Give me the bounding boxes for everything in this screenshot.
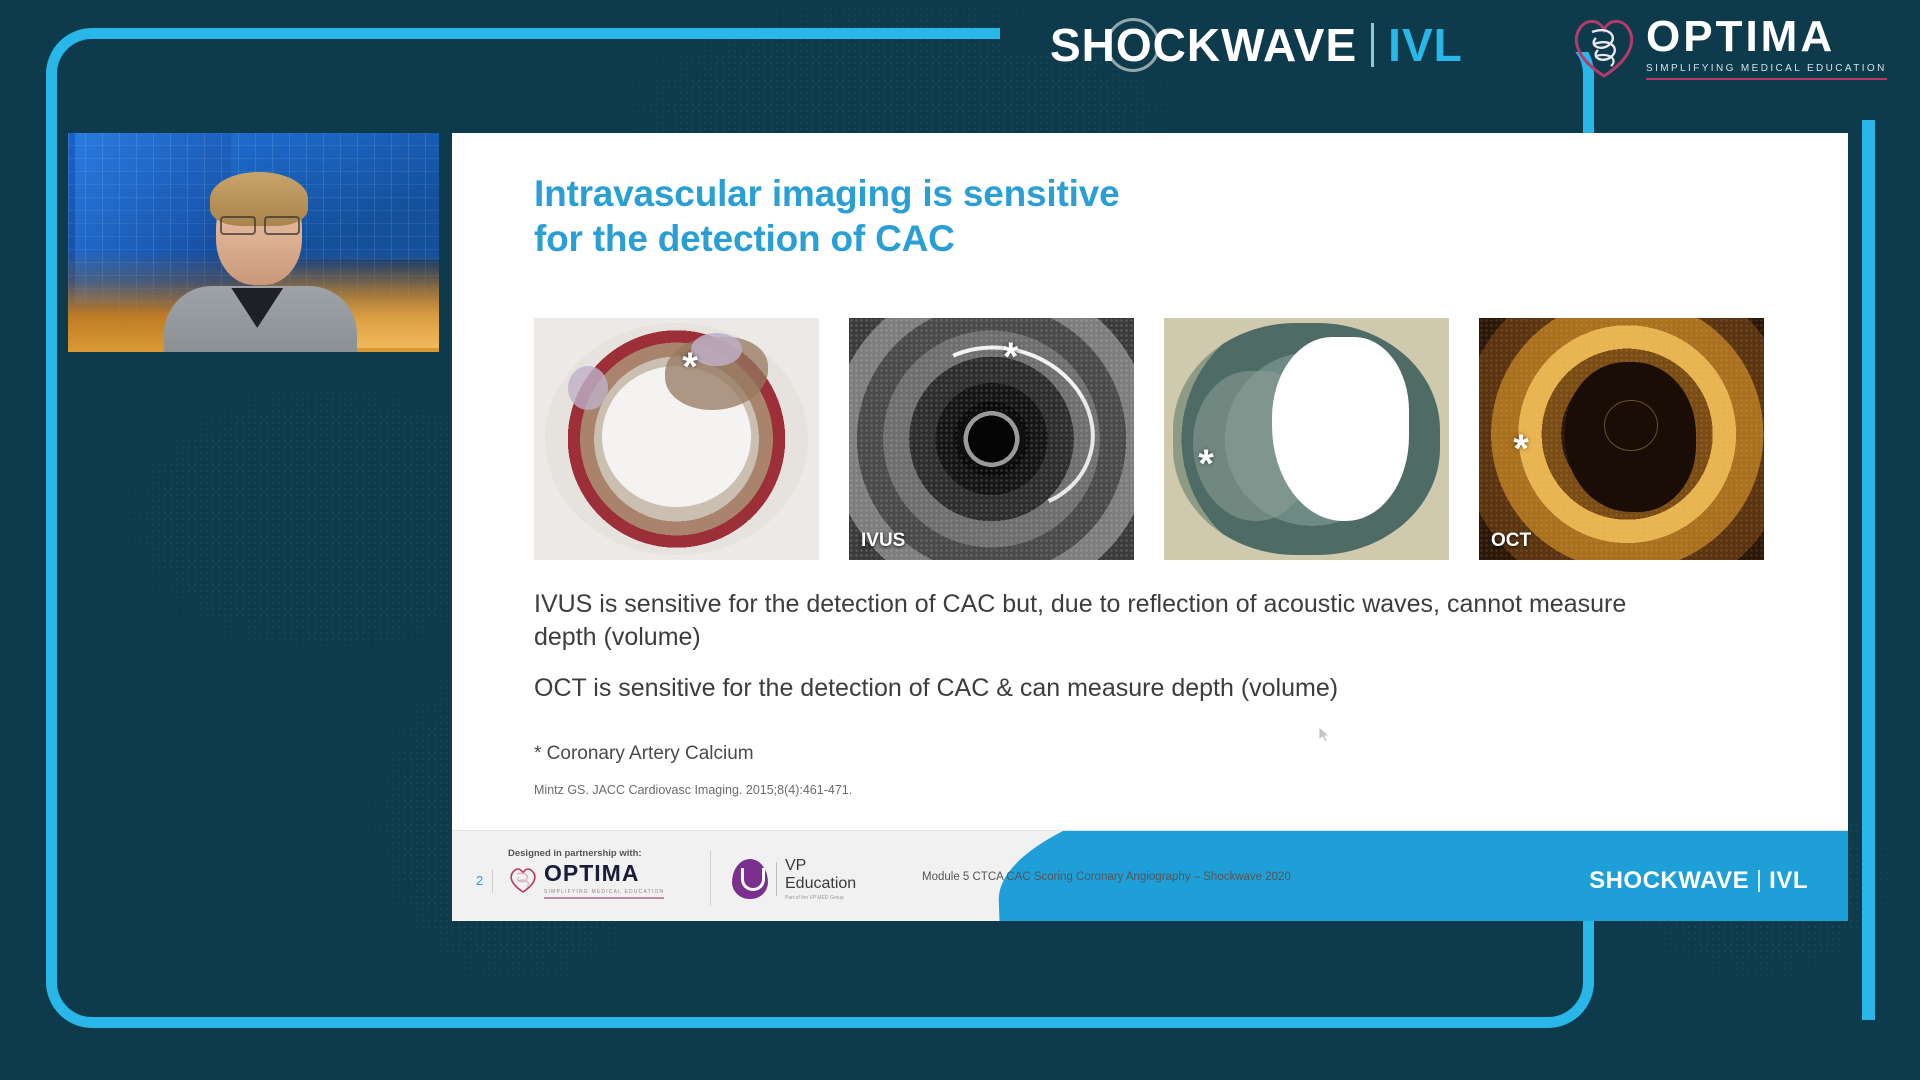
optima-underline (1646, 78, 1887, 80)
histology-he-section: * (534, 318, 819, 560)
vp-line-2: Education (785, 875, 856, 893)
optima-logo: OPTIMA SIMPLIFYING MEDICAL EDUCATION (1566, 14, 1887, 80)
footer-optima-wordmark: OPTIMA (544, 860, 664, 887)
calcium-deposit (691, 333, 742, 367)
slide-title-line-2: for the detection of CAC (534, 216, 1434, 261)
asterisk-marker: * (1003, 337, 1019, 377)
body-paragraph-2: OCT is sensitive for the detection of CA… (534, 672, 1684, 705)
footer-optima-logo: OPTIMA SIMPLIFYING MEDICAL EDUCATION (508, 860, 664, 899)
presenter-webcam-tile[interactable] (68, 133, 439, 352)
partnership-label: Designed in partnership with: (508, 848, 642, 859)
slide-number-divider (492, 869, 493, 893)
footer-optima-tagline: SIMPLIFYING MEDICAL EDUCATION (544, 889, 664, 895)
optima-heart-icon (508, 866, 538, 894)
body-paragraph-1: IVUS is sensitive for the detection of C… (534, 588, 1684, 654)
module-title-text: Module 5 CTCA CAC Scoring Coronary Angio… (922, 871, 1291, 883)
asterisk-marker: * (1513, 429, 1529, 469)
slide-number: 2 (476, 873, 483, 888)
slide-body-text: IVUS is sensitive for the detection of C… (534, 588, 1684, 705)
slide-footnote: * Coronary Artery Calcium (534, 743, 754, 765)
header-logo-bar: SHOCKWAVE IVL OPTIMA SIMPLIFYING MEDICAL… (1050, 8, 1910, 88)
optima-heart-spiral-icon (1566, 14, 1642, 80)
asterisk-marker: * (682, 347, 698, 387)
asterisk-marker: * (1198, 444, 1214, 484)
calcium-deposit-2 (568, 366, 608, 410)
vessel-lumen (1272, 337, 1409, 521)
mouse-cursor (1318, 726, 1332, 744)
footer-shockwave-wordmark: SHOCKWAVE (1589, 867, 1749, 895)
vp-shield-icon (732, 859, 768, 899)
oct-image: * OCT (1479, 318, 1764, 560)
ivus-label: IVUS (861, 530, 905, 552)
vp-line-1: VP (785, 857, 856, 875)
oct-label: OCT (1491, 530, 1531, 552)
slide-title: Intravascular imaging is sensitive for t… (534, 171, 1434, 261)
presenter-glasses (220, 216, 300, 231)
footer-optima-rule (544, 897, 664, 899)
shockwave-ring-icon (1106, 18, 1160, 72)
footer-logo-divider (1758, 870, 1760, 892)
shockwave-ivl-logo: SHOCKWAVE IVL (1050, 22, 1463, 68)
logo-divider (1371, 23, 1374, 67)
slide-citation: Mintz GS. JACC Cardiovasc Imaging. 2015;… (534, 783, 852, 797)
footer-divider (710, 851, 711, 905)
optima-wordmark: OPTIMA (1646, 15, 1887, 59)
vp-logo-divider (776, 862, 777, 896)
optima-tagline: SIMPLIFYING MEDICAL EDUCATION (1646, 63, 1887, 74)
histology-stained-section: * (1164, 318, 1449, 560)
ivus-image: * IVUS (849, 318, 1134, 560)
vp-sub-label: Part of the VP MED Group (785, 895, 856, 901)
slide-footer: 2 Designed in partnership with: OPTIMA S… (452, 830, 1848, 921)
footer-shockwave-logo: SHOCKWAVE IVL (1589, 867, 1808, 895)
footer-ivl-wordmark: IVL (1769, 867, 1808, 895)
shockwave-wordmark: SHOCKWAVE (1050, 22, 1357, 68)
image-row: * * IVUS * * OCT (534, 318, 1764, 560)
right-accent-bar (1862, 120, 1875, 1020)
catheter-artifact (957, 410, 1025, 468)
ivl-wordmark: IVL (1388, 22, 1463, 68)
slide-title-line-1: Intravascular imaging is sensitive (534, 171, 1434, 216)
oct-catheter-ring (1604, 400, 1657, 450)
presentation-slide[interactable]: Intravascular imaging is sensitive for t… (452, 133, 1848, 921)
footer-vp-education-logo: VP Education Part of the VP MED Group (732, 857, 856, 901)
